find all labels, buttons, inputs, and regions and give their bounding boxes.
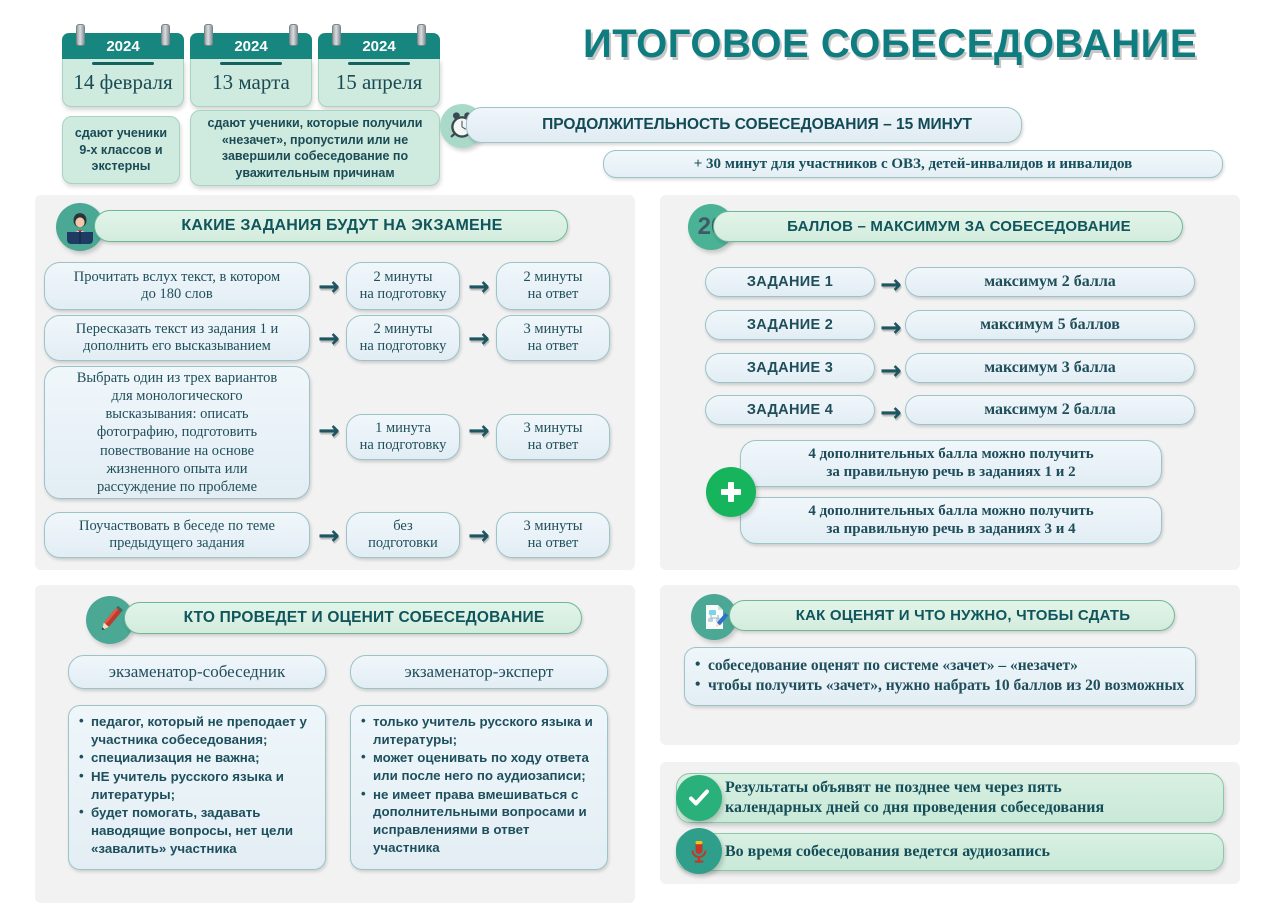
date-note: сдают ученики 9-х классов и экстерны xyxy=(62,116,180,184)
score-task: ЗАДАНИЕ 1 xyxy=(705,267,875,297)
arrow-icon: → xyxy=(880,315,902,341)
arrow-icon: → xyxy=(468,523,490,549)
arrow-icon: → xyxy=(318,326,340,352)
calendar-ring-icon xyxy=(417,24,426,46)
task-answer: 2 минуты на ответ xyxy=(496,262,610,310)
list-item: специализация не важна; xyxy=(79,749,315,767)
calendar-ring-icon xyxy=(289,24,298,46)
score-max: максимум 3 балла xyxy=(905,353,1195,383)
task-prep: 2 минуты на подготовку xyxy=(346,315,460,361)
score-max: максимум 2 балла xyxy=(905,267,1195,297)
tasks-panel-header-label: КАКИЕ ЗАДАНИЯ БУДУТ НА ЭКЗАМЕНЕ xyxy=(95,217,567,235)
score-max: максимум 2 балла xyxy=(905,395,1195,425)
score-task: ЗАДАНИЕ 4 xyxy=(705,395,875,425)
list-item: НЕ учитель русского языка и литературы; xyxy=(79,768,315,803)
score-task: ЗАДАНИЕ 3 xyxy=(705,353,875,383)
arrow-icon: → xyxy=(468,274,490,300)
date-note: сдают ученики, которые получили «незачет… xyxy=(190,110,440,186)
arrow-icon: → xyxy=(880,358,902,384)
duration-main: ПРОДОЛЖИТЕЛЬНОСТЬ СОБЕСЕДОВАНИЯ – 15 МИН… xyxy=(466,107,1022,143)
grading-panel-header: КАК ОЦЕНЯТ И ЧТО НУЖНО, ЧТОБЫ СДАТЬ xyxy=(729,600,1175,631)
check-icon xyxy=(676,775,722,821)
calendar-ring-icon xyxy=(161,24,170,46)
bonus-note: 4 дополнительных балла можно получить за… xyxy=(740,440,1162,487)
final-note-audio: Во время собеседования ведется аудиозапи… xyxy=(676,833,1224,871)
arrow-icon: → xyxy=(468,326,490,352)
examiners-panel-header: КТО ПРОВЕДЕТ И ОЦЕНИТ СОБЕСЕДОВАНИЕ xyxy=(124,602,582,634)
arrow-icon: → xyxy=(318,274,340,300)
task-text: Поучаствовать в беседе по теме предыдуще… xyxy=(44,512,310,558)
grading-list: собеседование оценят по системе «зачет» … xyxy=(684,647,1196,706)
bonus-note: 4 дополнительных балла можно получить за… xyxy=(740,497,1162,544)
list-item: чтобы получить «зачет», нужно набрать 10… xyxy=(695,676,1185,696)
examiner-column-title: экзаменатор-собеседник xyxy=(68,655,326,689)
duration-extra: + 30 минут для участников с ОВЗ, детей-и… xyxy=(603,150,1223,178)
examiner-column-list: педагог, который не преподает у участник… xyxy=(68,705,326,870)
examiner-column-list: только учитель русского языка и литерату… xyxy=(350,705,608,870)
arrow-icon: → xyxy=(880,400,902,426)
examiners-panel-header-label: КТО ПРОВЕДЕТ И ОЦЕНИТ СОБЕСЕДОВАНИЕ xyxy=(125,609,581,627)
score-panel-header-label: БАЛЛОВ – МАКСИМУМ ЗА СОБЕСЕДОВАНИЕ xyxy=(714,218,1182,235)
examiner-column-title: экзаменатор-эксперт xyxy=(350,655,608,689)
list-item: может оценивать по ходу ответа или после… xyxy=(361,749,597,784)
calendar-date: 15 апреля xyxy=(318,59,440,107)
list-item: только учитель русского языка и литерату… xyxy=(361,713,597,748)
list-item: собеседование оценят по системе «зачет» … xyxy=(695,656,1185,676)
task-text: Пересказать текст из задания 1 и дополни… xyxy=(44,315,310,361)
score-panel-header: БАЛЛОВ – МАКСИМУМ ЗА СОБЕСЕДОВАНИЕ xyxy=(713,211,1183,242)
task-text: Прочитать вслух текст, в котором до 180 … xyxy=(44,262,310,310)
calendar-ring-icon xyxy=(204,24,213,46)
list-item: педагог, который не преподает у участник… xyxy=(79,713,315,748)
page-title: ИТОГОВОЕ СОБЕСЕДОВАНИЕ xyxy=(540,22,1240,67)
final-note-results: Результаты объявят не позднее чем через … xyxy=(676,773,1224,823)
score-task: ЗАДАНИЕ 2 xyxy=(705,310,875,340)
arrow-icon: → xyxy=(880,272,902,298)
task-answer: 3 минуты на ответ xyxy=(496,414,610,460)
task-prep: без подготовки xyxy=(346,512,460,558)
list-item: будет помогать, задавать наводящие вопро… xyxy=(79,804,315,857)
infographic-root: ИТОГОВОЕ СОБЕСЕДОВАНИЕ 2024 14 февраля 2… xyxy=(0,0,1280,911)
plus-icon xyxy=(706,467,756,517)
calendar-card: 2024 15 апреля xyxy=(318,33,440,107)
arrow-icon: → xyxy=(318,523,340,549)
arrow-icon: → xyxy=(318,418,340,444)
tasks-panel-header: КАКИЕ ЗАДАНИЯ БУДУТ НА ЭКЗАМЕНЕ xyxy=(94,210,568,242)
task-answer: 3 минуты на ответ xyxy=(496,512,610,558)
task-text: Выбрать один из трех вариантов для монол… xyxy=(44,366,310,499)
score-max: максимум 5 баллов xyxy=(905,310,1195,340)
microphone-icon xyxy=(676,828,722,874)
arrow-icon: → xyxy=(468,418,490,444)
calendar-card: 2024 13 марта xyxy=(190,33,312,107)
grading-panel-header-label: КАК ОЦЕНЯТ И ЧТО НУЖНО, ЧТОБЫ СДАТЬ xyxy=(730,607,1174,624)
task-prep: 1 минута на подготовку xyxy=(346,414,460,460)
task-prep: 2 минуты на подготовку xyxy=(346,262,460,310)
calendar-date: 14 февраля xyxy=(62,59,184,107)
calendar-ring-icon xyxy=(76,24,85,46)
calendar-card: 2024 14 февраля xyxy=(62,33,184,107)
calendar-date: 13 марта xyxy=(190,59,312,107)
list-item: не имеет права вмешиваться с дополнитель… xyxy=(361,786,597,857)
calendar-ring-icon xyxy=(332,24,341,46)
task-answer: 3 минуты на ответ xyxy=(496,315,610,361)
